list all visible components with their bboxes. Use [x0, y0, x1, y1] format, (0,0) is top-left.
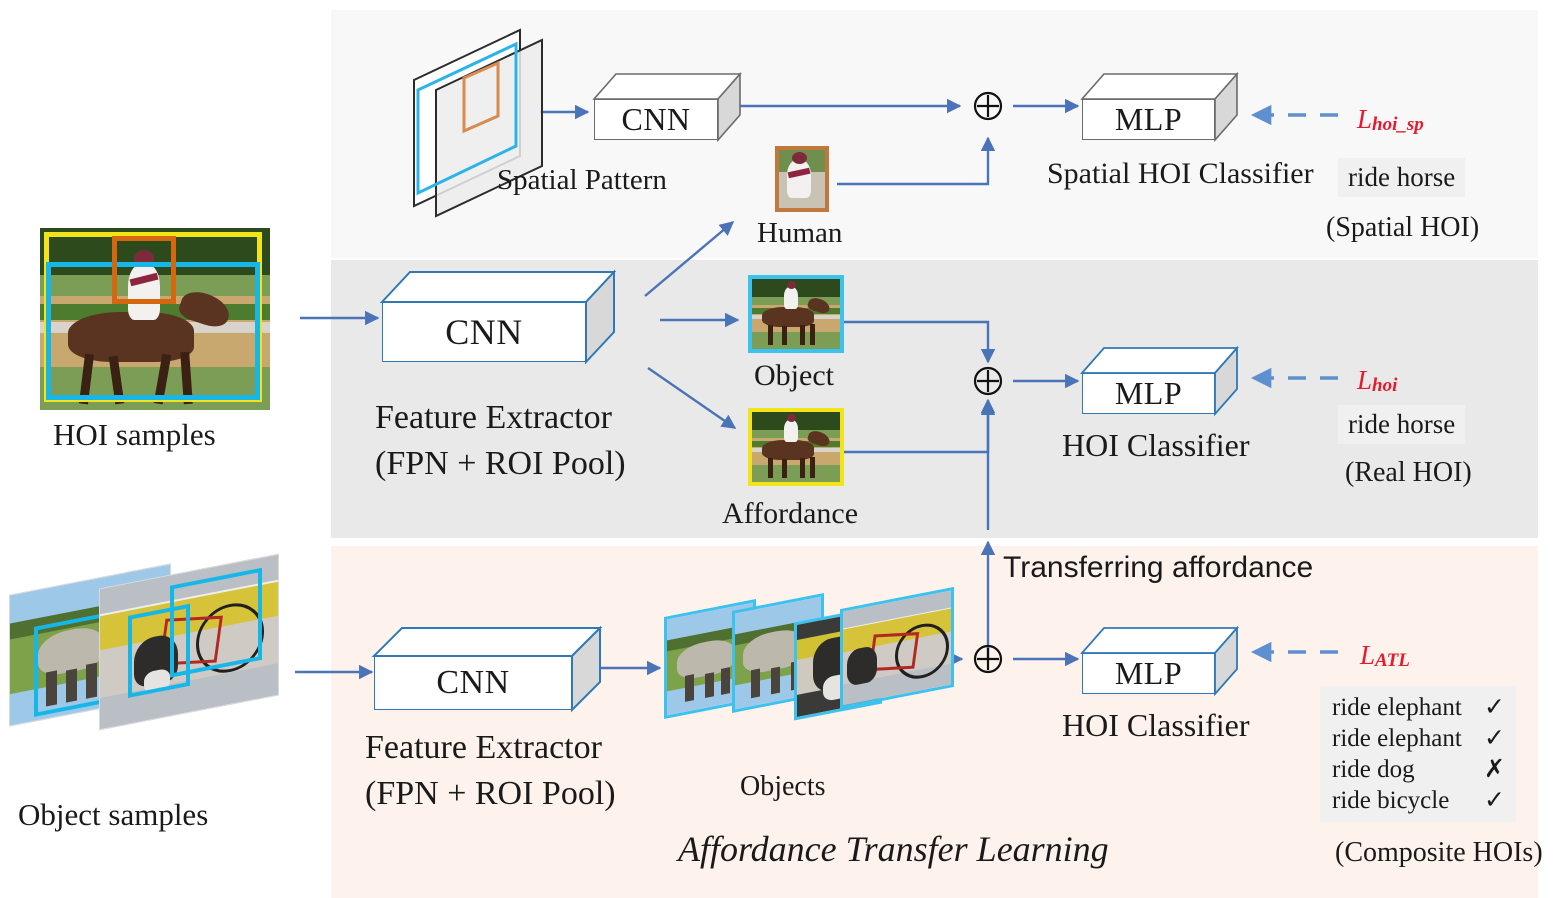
- composite-hois-box: ride elephant ✓ ride elephant ✓ ride dog…: [1320, 686, 1516, 822]
- bbox-cyan: [170, 568, 262, 678]
- affordance-crop-image: [748, 408, 844, 486]
- loss-atl: LATL: [1360, 640, 1410, 672]
- loss-symbol: L: [1357, 365, 1372, 395]
- hoi-mlp-label: MLP: [1115, 375, 1182, 412]
- composite-hoi-mark: ✗: [1484, 754, 1504, 785]
- spatial-cnn-label: CNN: [621, 101, 690, 138]
- loss-subscript: hoi: [1372, 375, 1397, 396]
- human-label: Human: [757, 218, 842, 249]
- composite-hoi-row: ride bicycle ✓: [1332, 785, 1504, 816]
- composite-hoi-text: ride elephant: [1332, 723, 1462, 754]
- spatial-prediction-box: ride horse: [1338, 158, 1465, 197]
- atl-cnn-label: CNN: [436, 664, 509, 702]
- composite-hoi-row: ride dog ✗: [1332, 754, 1504, 785]
- loss-subscript: ATL: [1375, 650, 1410, 671]
- bbox-cyan: [34, 613, 108, 717]
- objects-label: Objects: [740, 772, 826, 802]
- loss-hoi: Lhoi: [1357, 365, 1397, 397]
- spatial-hoi-classifier-label: Spatial HOI Classifier: [1047, 158, 1314, 190]
- affordance-label: Affordance: [722, 498, 858, 530]
- atl-classifier-label: HOI Classifier: [1062, 708, 1250, 743]
- hoi-cnn-label: CNN: [445, 311, 523, 353]
- hoi-mlp-box: MLP: [1082, 348, 1237, 414]
- object-label: Object: [754, 360, 834, 392]
- hoi-prediction-text: ride horse: [1348, 409, 1455, 439]
- hoi-prediction-caption: (Real HOI): [1345, 458, 1472, 488]
- atl-cnn-box: CNN: [374, 628, 600, 710]
- object-crop-image: [748, 275, 844, 353]
- bbox-orange: [112, 236, 176, 304]
- object-samples-stack: [8, 552, 298, 742]
- composite-hoi-text: ride dog: [1332, 754, 1415, 785]
- composite-hoi-mark: ✓: [1484, 723, 1504, 754]
- composite-hoi-mark: ✓: [1484, 692, 1504, 723]
- spatial-pattern-label: Spatial Pattern: [497, 165, 667, 196]
- loss-symbol: L: [1357, 104, 1372, 134]
- atl-mlp-label: MLP: [1115, 655, 1182, 692]
- atl-feature-extractor-line2: (FPN + ROI Pool): [365, 776, 616, 813]
- composite-hoi-row: ride elephant ✓: [1332, 723, 1504, 754]
- hoi-cnn-box: CNN: [382, 272, 614, 362]
- hoi-sum-operator: [973, 366, 1003, 396]
- hoi-feature-extractor-line1: Feature Extractor: [375, 400, 612, 437]
- loss-subscript: hoi_sp: [1372, 114, 1424, 135]
- object-samples-label: Object samples: [18, 798, 208, 831]
- affordance-transfer-learning-title: Affordance Transfer Learning: [678, 830, 1109, 869]
- atl-feature-extractor-line1: Feature Extractor: [365, 730, 602, 767]
- hoi-classifier-label: HOI Classifier: [1062, 428, 1250, 463]
- spatial-prediction-text: ride horse: [1348, 162, 1455, 192]
- composite-hoi-text: ride elephant: [1332, 692, 1462, 723]
- hoi-sample-image: [40, 228, 270, 410]
- loss-symbol: L: [1360, 640, 1375, 670]
- spatial-sum-operator: [973, 91, 1003, 121]
- spatial-mlp-box: MLP: [1082, 74, 1237, 140]
- hoi-prediction-box: ride horse: [1338, 405, 1465, 444]
- atl-sum-operator: [973, 644, 1003, 674]
- spatial-cnn-box: CNN: [594, 74, 740, 140]
- transferring-affordance-label: Transferring affordance: [1003, 552, 1313, 584]
- composite-hois-caption: (Composite HOIs): [1335, 838, 1543, 868]
- spatial-prediction-caption: (Spatial HOI): [1326, 213, 1479, 243]
- composite-hoi-text: ride bicycle: [1332, 785, 1449, 816]
- loss-hoi-sp: Lhoi_sp: [1357, 104, 1424, 136]
- spatial-mlp-label: MLP: [1115, 101, 1182, 138]
- hoi-samples-label: HOI samples: [53, 418, 216, 451]
- hoi-feature-extractor-line2: (FPN + ROI Pool): [375, 446, 626, 483]
- human-crop-image: [775, 146, 829, 212]
- composite-hoi-mark: ✓: [1484, 785, 1504, 816]
- composite-hoi-row: ride elephant ✓: [1332, 692, 1504, 723]
- objects-stack: [660, 592, 920, 722]
- atl-mlp-box: MLP: [1082, 628, 1237, 694]
